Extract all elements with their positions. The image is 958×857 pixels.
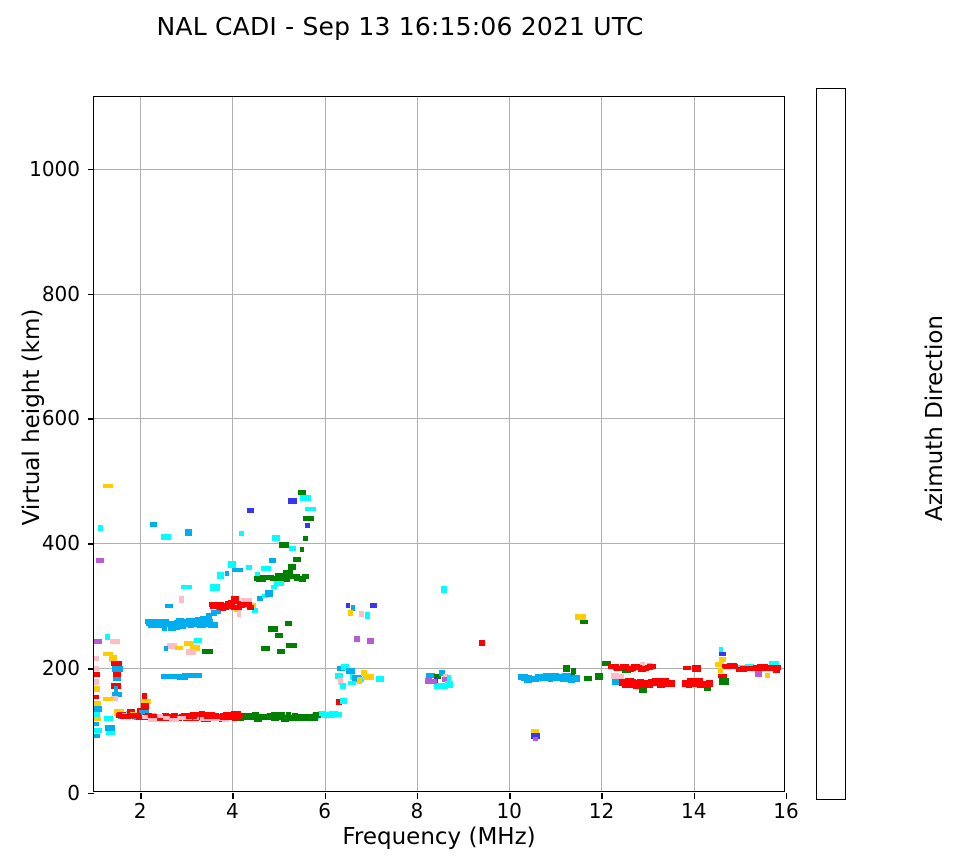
y-tick [88, 668, 94, 669]
echo-marker [175, 646, 183, 650]
echo-marker [103, 697, 113, 701]
echo-marker [580, 620, 588, 624]
echo-marker [103, 484, 113, 488]
y-tick-label: 600 [42, 406, 80, 430]
echo-marker [232, 568, 243, 572]
y-tick [88, 793, 94, 794]
echo-marker [340, 683, 346, 689]
y-tick [88, 294, 94, 295]
echo-marker [719, 652, 726, 656]
echo-marker [202, 649, 213, 654]
y-tick [88, 418, 94, 419]
echo-marker [247, 605, 254, 610]
echo-marker [181, 585, 192, 589]
echo-marker [150, 522, 157, 527]
echo-marker [94, 734, 100, 738]
echo-marker [239, 531, 244, 536]
x-tick-label: 2 [134, 799, 147, 823]
ionogram-data-canvas [94, 97, 784, 791]
echo-marker [719, 657, 726, 662]
y-tick-label: 800 [42, 282, 80, 306]
echo-marker [765, 673, 770, 678]
echo-marker [157, 714, 163, 718]
echo-marker [354, 636, 360, 642]
colorbar-title: Azimuth Direction [922, 268, 948, 568]
echo-marker [94, 639, 102, 644]
echo-marker [196, 673, 202, 678]
echo-marker [370, 603, 377, 608]
echo-marker [210, 584, 220, 591]
echo-marker [94, 728, 102, 733]
echo-marker [179, 596, 184, 603]
echo-marker [279, 542, 289, 548]
echo-marker [148, 718, 157, 722]
echo-marker [718, 668, 723, 673]
echo-marker [237, 610, 241, 617]
echo-marker [277, 649, 285, 654]
echo-marker [774, 665, 781, 670]
echo-marker [164, 646, 168, 651]
x-axis-label: Frequency (MHz) [93, 824, 785, 850]
y-tick-label: 400 [42, 531, 80, 555]
x-tick-label: 16 [773, 799, 798, 823]
echo-marker [348, 610, 353, 616]
x-tick-label: 10 [496, 799, 521, 823]
echo-marker [286, 643, 297, 648]
echo-marker [98, 525, 103, 531]
echo-marker [113, 677, 121, 681]
echo-marker [367, 638, 374, 644]
echo-marker [246, 565, 252, 570]
echo-marker [479, 640, 485, 646]
echo-marker [719, 647, 723, 652]
echo-marker [425, 678, 432, 684]
echo-marker [293, 557, 301, 562]
echo-marker [445, 681, 453, 688]
echo-marker [584, 676, 592, 681]
echo-marker [365, 612, 370, 619]
echo-marker [94, 722, 99, 726]
y-tick [88, 543, 94, 544]
x-tick-label: 14 [681, 799, 706, 823]
echo-marker [231, 596, 239, 601]
echo-marker [142, 693, 147, 699]
echo-marker [683, 666, 691, 670]
echo-marker [305, 507, 316, 511]
echo-marker [268, 626, 278, 632]
page-title: NAL CADI - Sep 13 16:15:06 2021 UTC [0, 12, 800, 41]
echo-marker [718, 674, 727, 678]
echo-marker [595, 673, 603, 680]
echo-marker [346, 603, 350, 608]
echo-marker [359, 611, 364, 617]
echo-marker [303, 536, 308, 541]
echo-marker [106, 731, 115, 735]
echo-marker [289, 546, 296, 551]
echo-marker [185, 529, 192, 536]
echo-marker [194, 638, 202, 643]
echo-marker [363, 674, 374, 680]
echo-marker [719, 678, 729, 685]
echo-marker [571, 668, 576, 674]
echo-marker [94, 712, 100, 717]
echo-marker [305, 523, 310, 528]
echo-marker [96, 558, 104, 563]
echo-marker [111, 661, 122, 666]
echo-marker [300, 495, 311, 501]
echo-marker [231, 711, 241, 716]
echo-marker [161, 534, 171, 540]
echo-marker [667, 680, 675, 687]
echo-marker [94, 672, 100, 677]
echo-marker [217, 572, 224, 579]
y-tick [88, 169, 94, 170]
x-tick-label: 12 [589, 799, 614, 823]
echo-marker [275, 633, 283, 638]
echo-marker [165, 604, 173, 608]
echo-marker [110, 639, 120, 644]
echo-marker [755, 671, 762, 677]
echo-marker [563, 665, 570, 672]
y-axis-label: Virtual height (km) [19, 267, 45, 567]
echo-marker [94, 666, 99, 671]
echo-marker [104, 716, 113, 721]
y-tick-label: 0 [67, 781, 80, 805]
echo-marker [346, 668, 355, 674]
echo-marker [94, 717, 101, 721]
echo-marker [208, 622, 218, 628]
echo-marker [288, 498, 297, 504]
echo-marker [376, 676, 384, 682]
echo-marker [261, 646, 270, 651]
echo-marker [247, 508, 254, 513]
echo-marker [706, 680, 713, 687]
echo-marker [300, 547, 304, 552]
echo-marker [269, 558, 276, 563]
echo-marker [113, 672, 121, 677]
echo-marker [272, 535, 280, 541]
echo-marker [94, 695, 99, 699]
echo-marker [692, 665, 701, 672]
echo-marker [303, 516, 314, 521]
echo-marker [331, 712, 342, 717]
azimuth-colorbar [816, 88, 846, 800]
echo-marker [533, 737, 538, 741]
x-tick-label: 6 [318, 799, 331, 823]
x-tick-label: 4 [226, 799, 239, 823]
echo-marker [647, 664, 656, 669]
echo-marker [261, 566, 271, 571]
echo-marker [288, 564, 296, 570]
echo-marker [94, 656, 99, 661]
echo-marker [225, 571, 229, 576]
echo-marker [357, 677, 362, 684]
x-tick-label: 8 [411, 799, 424, 823]
y-tick-label: 1000 [29, 157, 80, 181]
echo-marker [265, 590, 273, 597]
echo-marker [94, 679, 99, 685]
ionogram-plot: 24681012141602004006008001000 [93, 96, 785, 792]
echo-marker [340, 698, 347, 704]
echo-marker [285, 621, 292, 626]
y-tick-label: 200 [42, 656, 80, 680]
echo-marker [298, 490, 306, 495]
echo-marker [94, 686, 100, 692]
echo-marker [302, 574, 309, 579]
echo-marker [441, 586, 447, 593]
echo-marker [348, 681, 356, 685]
echo-marker [186, 649, 196, 655]
echo-marker [573, 675, 580, 681]
